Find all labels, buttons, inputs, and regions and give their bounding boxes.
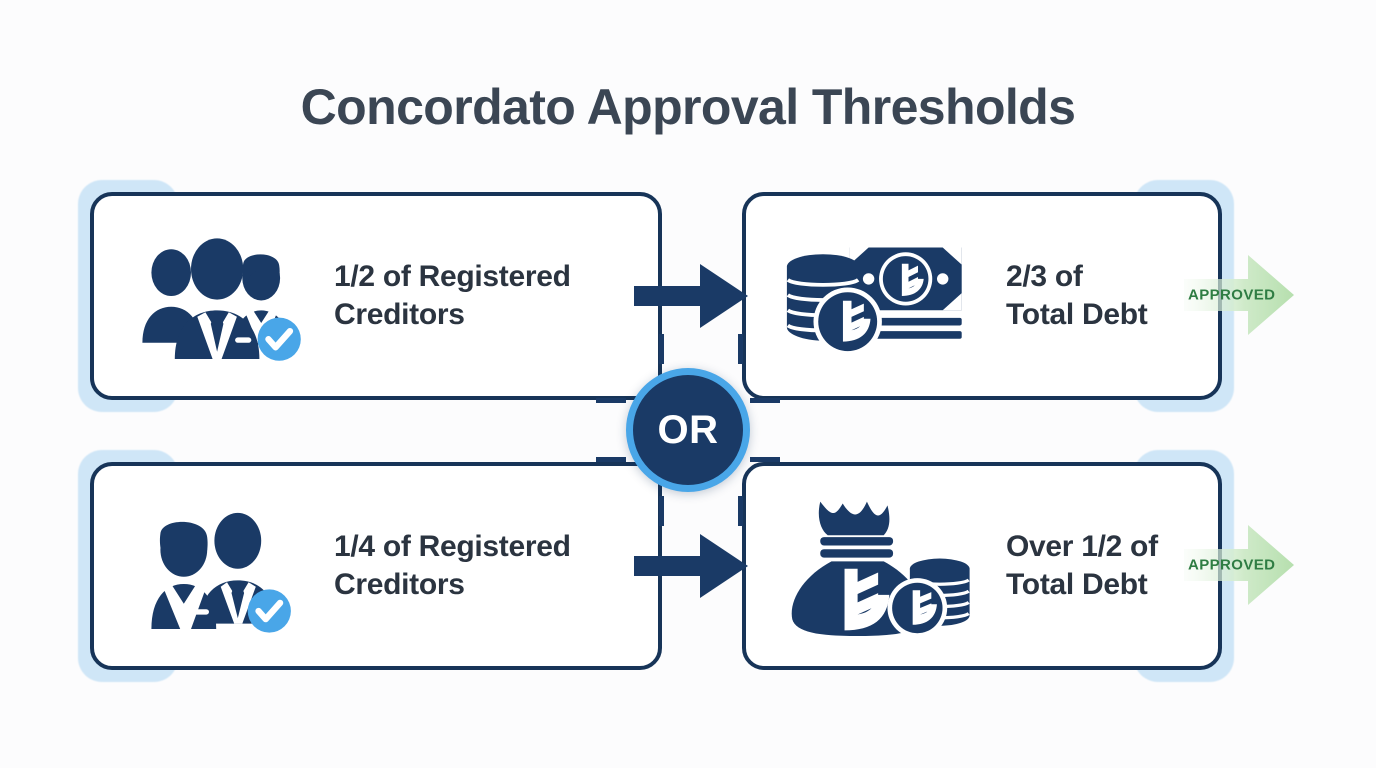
- condition-label-row-1: 1/2 of Registered Creditors: [334, 258, 571, 335]
- or-tick-right-lower: [750, 457, 780, 462]
- condition-card-row-1[interactable]: 1/2 of Registered Creditors: [90, 192, 662, 400]
- approved-arrow-row-1: APPROVED: [1184, 253, 1294, 337]
- two-people-icon: [128, 501, 308, 631]
- group-of-three-people-icon: [128, 231, 308, 361]
- or-tick-right-upper: [750, 398, 780, 403]
- or-badge[interactable]: OR: [626, 368, 750, 492]
- or-tick-top-right: [738, 334, 743, 364]
- or-tick-left-upper: [596, 398, 626, 403]
- diagram-stage: 1/2 of Registered Creditors: [0, 0, 1376, 768]
- approved-label-row-1: APPROVED: [1188, 287, 1275, 304]
- condition-label-line1: 1/4 of Registered: [334, 528, 571, 566]
- requirement-label-line2: Total Debt: [1006, 566, 1158, 604]
- approved-arrow-row-2: APPROVED: [1184, 523, 1294, 607]
- requirement-label-line2: Total Debt: [1006, 296, 1147, 334]
- flow-arrow-row-1: [634, 260, 750, 332]
- condition-label-line1: 1/2 of Registered: [334, 258, 571, 296]
- or-tick-left-lower: [596, 457, 626, 462]
- or-tick-bottom-left: [659, 496, 664, 526]
- or-badge-label: OR: [658, 408, 719, 453]
- requirement-label-line1: 2/3 of: [1006, 258, 1147, 296]
- requirement-label-line1: Over 1/2 of: [1006, 528, 1158, 566]
- condition-label-line2: Creditors: [334, 296, 571, 334]
- condition-card-row-2[interactable]: 1/4 of Registered Creditors: [90, 462, 662, 670]
- coins-and-banknote-icon: [780, 231, 980, 361]
- approved-label-row-2: APPROVED: [1188, 557, 1275, 574]
- requirement-card-row-1[interactable]: 2/3 of Total Debt: [742, 192, 1222, 400]
- or-tick-bottom-right: [738, 496, 743, 526]
- or-tick-top-left: [659, 334, 664, 364]
- money-bag-and-coins-icon: [780, 501, 980, 631]
- flow-arrow-row-2: [634, 530, 750, 602]
- condition-label-line2: Creditors: [334, 566, 571, 604]
- requirement-card-row-2[interactable]: Over 1/2 of Total Debt: [742, 462, 1222, 670]
- requirement-label-row-1: 2/3 of Total Debt: [1006, 258, 1147, 335]
- requirement-label-row-2: Over 1/2 of Total Debt: [1006, 528, 1158, 605]
- condition-label-row-2: 1/4 of Registered Creditors: [334, 528, 571, 605]
